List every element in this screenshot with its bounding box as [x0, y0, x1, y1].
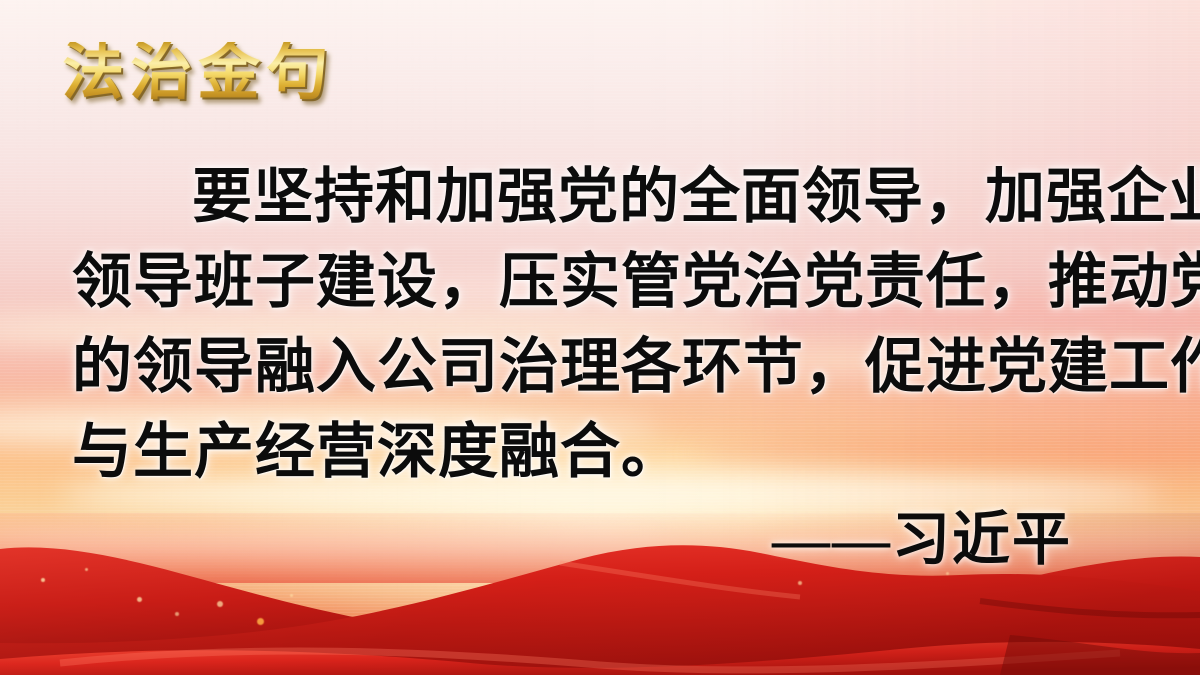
page-title: 法治金句 [61, 42, 335, 104]
quote-body: 要坚持和加强党的全面领导，加强企业 领导班子建设，压实管党治党责任，推动党 的领… [72, 155, 1132, 495]
quote-attribution: ——习近平 [772, 505, 1072, 575]
quote-line: 领导班子建设，压实管党治党责任，推动党 [72, 240, 1132, 325]
quote-line: 与生产经营深度融合。 [72, 410, 1132, 495]
slide-canvas: 法治金句 要坚持和加强党的全面领导，加强企业 领导班子建设，压实管党治党责任，推… [0, 0, 1200, 675]
quote-line: 要坚持和加强党的全面领导，加强企业 [72, 155, 1132, 240]
quote-line: 的领导融入公司治理各环节，促进党建工作 [72, 325, 1132, 410]
